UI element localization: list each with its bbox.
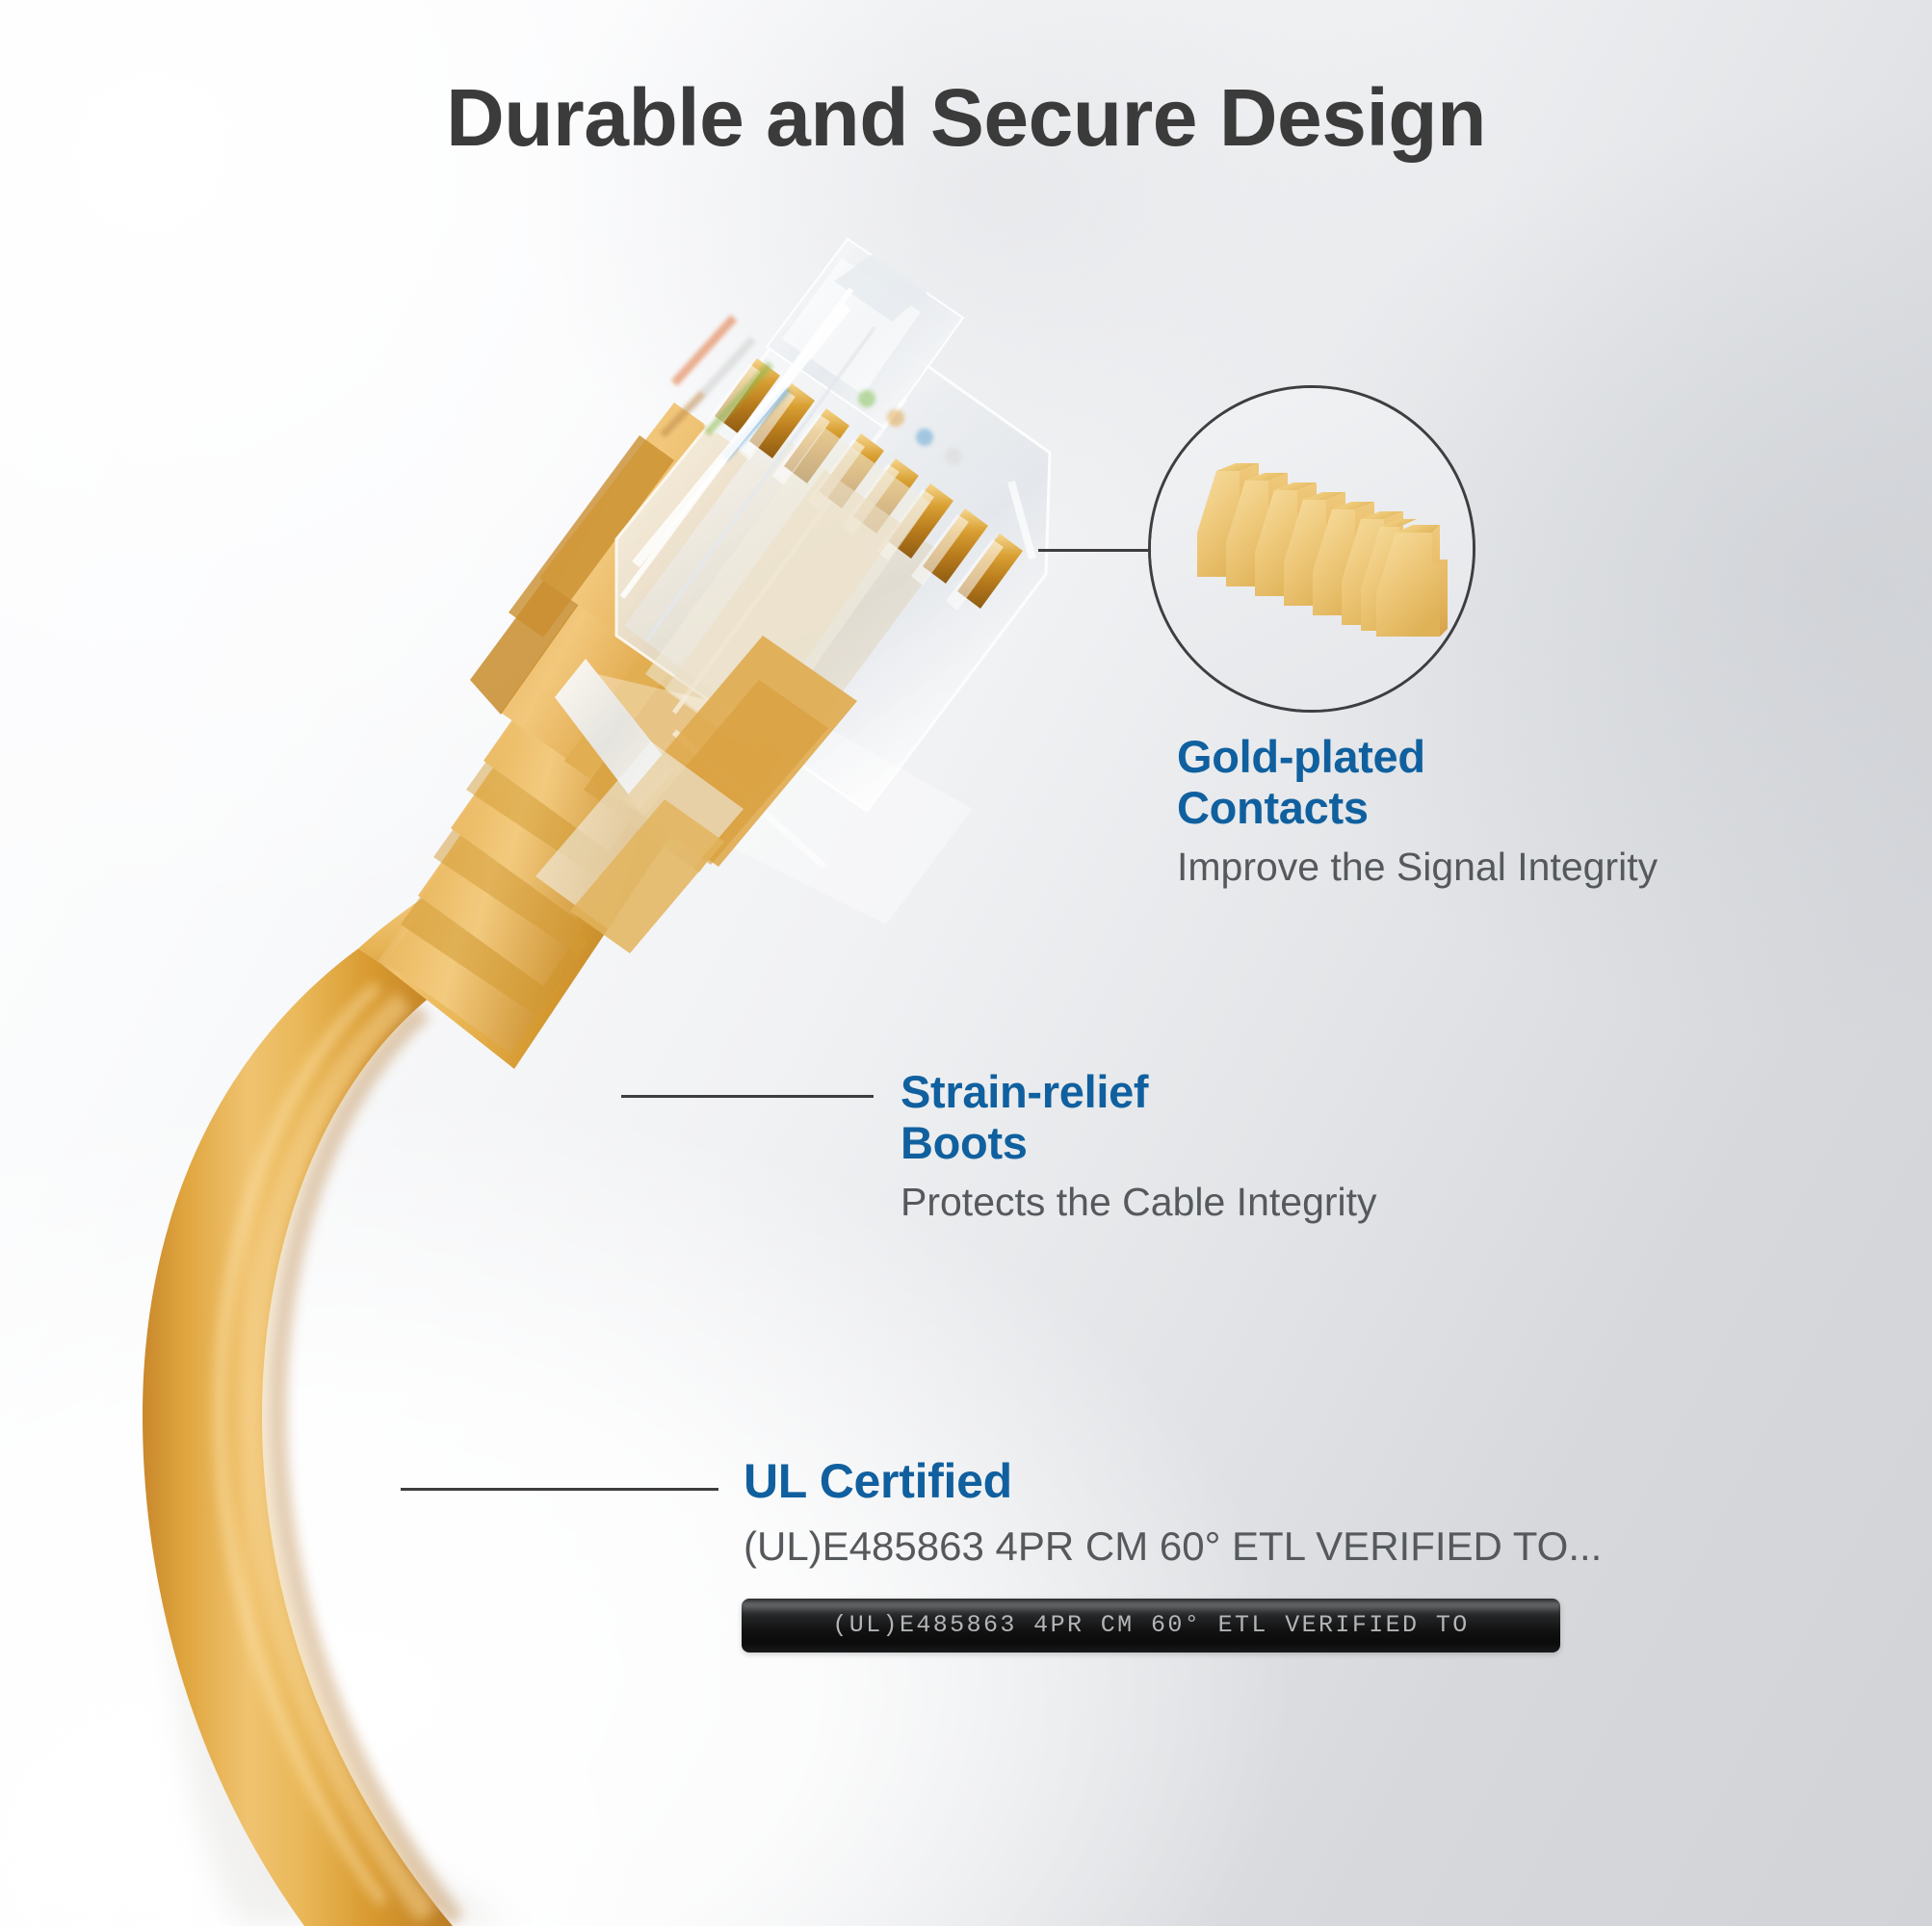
gold-contact-pins (703, 358, 1023, 611)
infographic-canvas: Durable and Secure Design (0, 0, 1932, 1926)
leader-line-strain-relief-boots (621, 1095, 874, 1098)
callout-subtitle-ul-certified: (UL)E485863 4PR CM 60° ETL VERIFIED TO..… (744, 1522, 1602, 1573)
callout-subtitle-gold-plated-contacts: Improve the Signal Integrity (1177, 843, 1658, 892)
callout-gold-plated-contacts: Gold-plated Contacts Improve the Signal … (1177, 732, 1658, 893)
strain-relief-boot (378, 539, 732, 1069)
cable-print-strip: (UL)E485863 4PR CM 60° ETL VERIFIED TO (742, 1599, 1560, 1653)
callout-ul-certified: UL Certified (UL)E485863 4PR CM 60° ETL … (744, 1454, 1602, 1573)
page-title: Durable and Secure Design (0, 71, 1932, 165)
cable-printed-text: (UL)E485863 4PR CM 60° ETL VERIFIED TO (742, 1611, 1560, 1639)
rj45-clear-shell (555, 239, 1050, 924)
gold-contact-pins-illustration (1151, 388, 1473, 710)
callout-title-strain-relief-boots: Strain-relief Boots (901, 1067, 1377, 1168)
magnifier-circle-gold-contacts (1148, 385, 1475, 713)
rj45-connector-body (509, 403, 944, 872)
callout-title-gold-plated-contacts: Gold-plated Contacts (1177, 732, 1658, 833)
callout-title-ul-certified: UL Certified (744, 1454, 1602, 1508)
leader-line-ul-certified (401, 1488, 718, 1491)
callout-subtitle-strain-relief-boots: Protects the Cable Integrity (901, 1178, 1377, 1227)
callout-strain-relief-boots: Strain-relief Boots Protects the Cable I… (901, 1067, 1377, 1228)
